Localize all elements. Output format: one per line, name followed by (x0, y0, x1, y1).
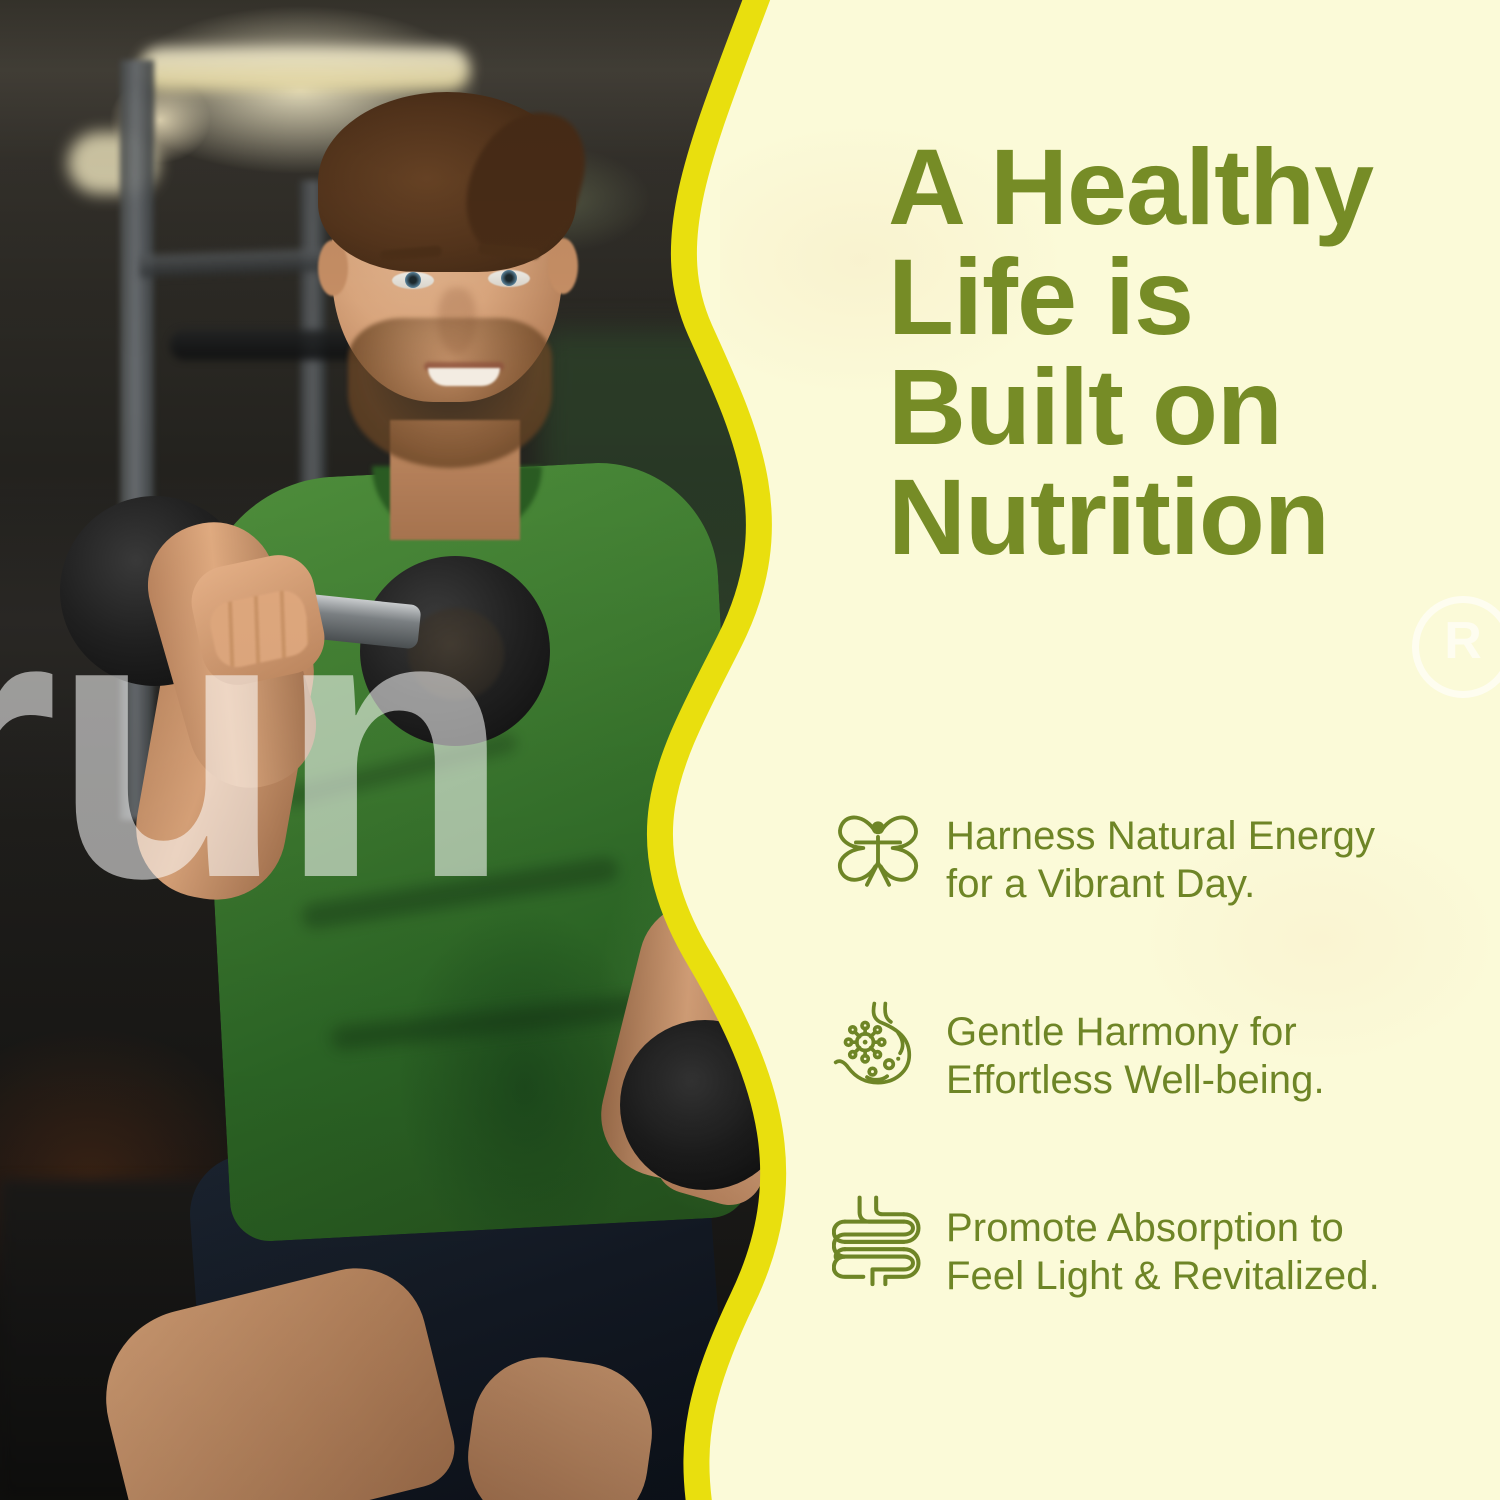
benefit-item-energy: Harness Natural Energy for a Vibrant Day… (832, 800, 1472, 908)
dumbbell-lower-plate (620, 1020, 790, 1190)
benefit-text-digestion: Gentle Harmony for Effortless Well-being… (946, 996, 1325, 1104)
athlete-beard (348, 318, 552, 468)
benefit-absorption-line-2: Feel Light & Revitalized. (946, 1254, 1380, 1298)
headline-line-4: Nutrition (888, 462, 1488, 572)
athlete-iris-left (405, 272, 421, 288)
headline-line-2: Life is (888, 242, 1488, 352)
athlete-iris-right (501, 270, 517, 286)
benefit-item-digestion: Gentle Harmony for Effortless Well-being… (832, 996, 1472, 1104)
intestines-absorption-icon (832, 1192, 924, 1288)
benefit-energy-line-1: Harness Natural Energy (946, 814, 1375, 858)
headline-line-1: A Healthy (888, 132, 1488, 242)
registered-trademark-icon: R (1412, 596, 1500, 698)
benefit-text-absorption: Promote Absorption to Feel Light & Revit… (946, 1192, 1380, 1300)
benefit-absorption-line-1: Promote Absorption to (946, 1206, 1344, 1250)
headline-line-3: Built on (888, 352, 1488, 462)
stomach-microbiome-icon (832, 996, 924, 1092)
person-butterfly-vitality-icon (832, 800, 924, 896)
benefit-digestion-line-1: Gentle Harmony for (946, 1010, 1297, 1054)
brand-watermark: Geerun (0, 545, 730, 965)
benefit-energy-line-2: for a Vibrant Day. (946, 862, 1255, 906)
benefit-text-energy: Harness Natural Energy for a Vibrant Day… (946, 800, 1375, 908)
promo-poster: Geerun Geerun R A Healthy Life is Built … (0, 0, 1500, 1500)
benefit-digestion-line-2: Effortless Well-being. (946, 1058, 1325, 1102)
benefit-item-absorption: Promote Absorption to Feel Light & Revit… (832, 1192, 1472, 1300)
benefit-list: Harness Natural Energy for a Vibrant Day… (832, 800, 1472, 1388)
ceiling-light (140, 48, 470, 90)
page-title: A Healthy Life is Built on Nutrition (888, 132, 1488, 573)
athlete-mouth (428, 368, 500, 386)
